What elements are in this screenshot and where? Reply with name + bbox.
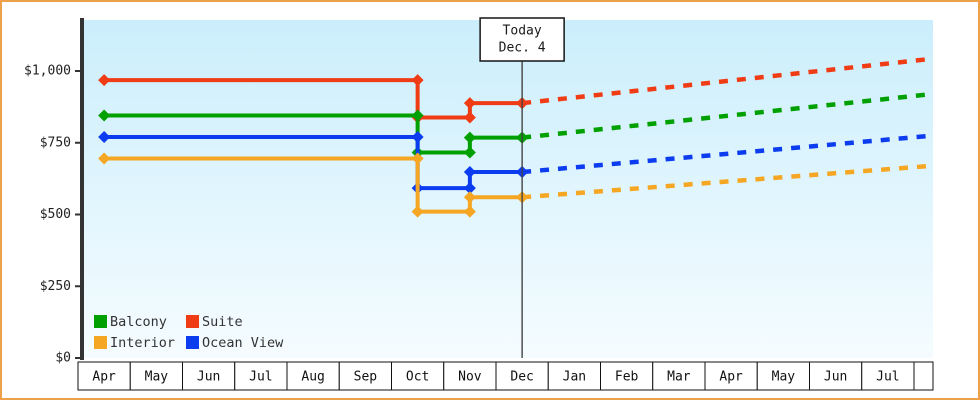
legend-swatch-balcony	[94, 315, 107, 328]
month-cell-label: Jun	[824, 370, 847, 385]
legend-label-suite: Suite	[202, 314, 243, 330]
month-cell-trailing	[914, 362, 933, 390]
month-cell-label: Mar	[667, 370, 691, 385]
month-cell-label: Jul	[876, 370, 899, 385]
price-forecast-chart: $0$250$500$750$1,000 AprMayJunJulAugSepO…	[0, 0, 980, 400]
month-cell-label: Jul	[249, 370, 272, 385]
month-cell-label: May	[772, 370, 796, 385]
month-cell-label: Feb	[615, 370, 639, 385]
legend-swatch-interior	[94, 336, 107, 349]
y-axis-tick-label: $500	[40, 207, 71, 222]
x-axis-month-cells: AprMayJunJulAugSepOctNovDecJanFebMarAprM…	[78, 362, 933, 390]
month-cell-label: Oct	[406, 370, 429, 385]
month-cell-label: Nov	[458, 370, 482, 385]
month-cell-label: Dec	[510, 370, 533, 385]
month-cell-label: Apr	[92, 370, 116, 385]
legend-label-ocean-view: Ocean View	[202, 335, 284, 351]
legend-swatch-ocean-view	[186, 336, 199, 349]
today-label-line2: Dec. 4	[499, 41, 546, 56]
month-cell-label: Jan	[563, 370, 586, 385]
y-axis-tick-label: $750	[40, 135, 71, 150]
plot-background	[82, 20, 933, 358]
chart-canvas: $0$250$500$750$1,000 AprMayJunJulAugSepO…	[2, 2, 980, 400]
month-cell-label: Sep	[354, 370, 378, 385]
today-label-line1: Today	[503, 24, 542, 39]
y-axis-tick-label: $1,000	[24, 64, 71, 79]
y-axis-tick-label: $250	[40, 279, 71, 294]
legend-label-balcony: Balcony	[110, 314, 167, 330]
y-axis: $0$250$500$750$1,000	[24, 18, 82, 366]
month-cell-label: Aug	[301, 370, 324, 385]
month-cell-label: Apr	[719, 370, 743, 385]
month-cell-label: Jun	[197, 370, 220, 385]
month-cell-label: May	[145, 370, 169, 385]
legend-label-interior: Interior	[110, 335, 175, 351]
legend-swatch-suite	[186, 315, 199, 328]
y-axis-tick-label: $0	[55, 351, 71, 366]
